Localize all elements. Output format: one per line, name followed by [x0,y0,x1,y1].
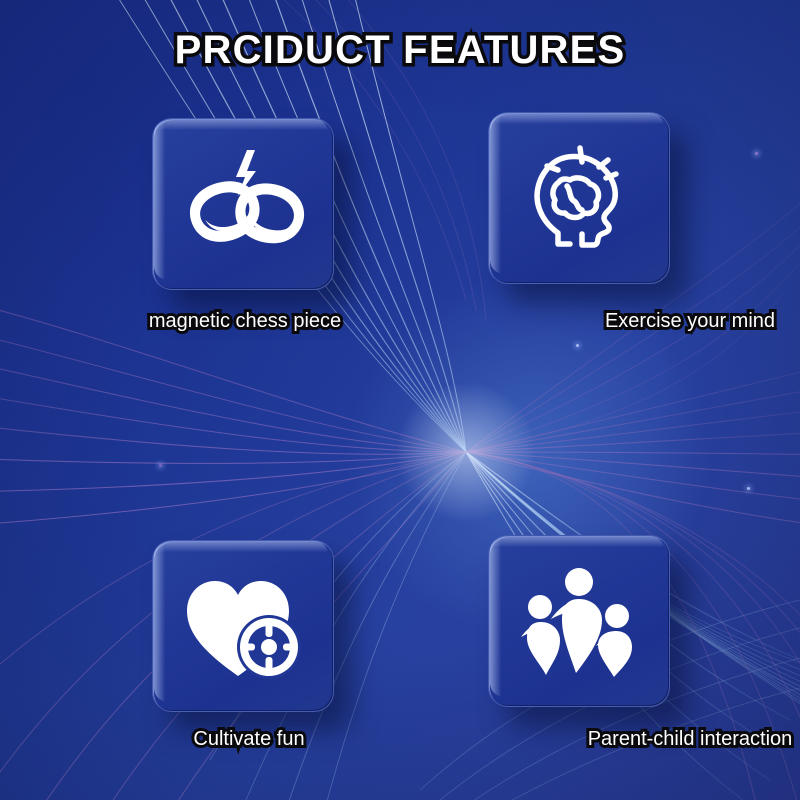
background-curve-pattern [0,0,800,800]
family-three-people-icon [516,563,642,679]
feature-card-magnetic-chess-piece[interactable] [152,118,334,290]
background-speck [747,487,750,490]
background-speck [576,344,579,347]
page-title: PRCIDUCT FEATURES [0,28,800,73]
feature-label-parent-child-interaction: Parent-child interaction [380,728,800,751]
heart-steering-wheel-icon [181,568,305,684]
head-brain-icon [520,138,638,258]
background-speck [159,464,162,467]
feature-card-cultivate-fun[interactable] [152,540,334,712]
feature-card-exercise-your-mind[interactable] [488,112,670,284]
magnet-chess-piece-icon [178,144,308,264]
feature-card-parent-child-interaction[interactable] [488,535,670,707]
background-speck [755,152,758,155]
product-features-poster: PRCIDUCT FEATURES [0,0,800,800]
feature-label-exercise-your-mind: Exercise your mind [390,310,800,333]
